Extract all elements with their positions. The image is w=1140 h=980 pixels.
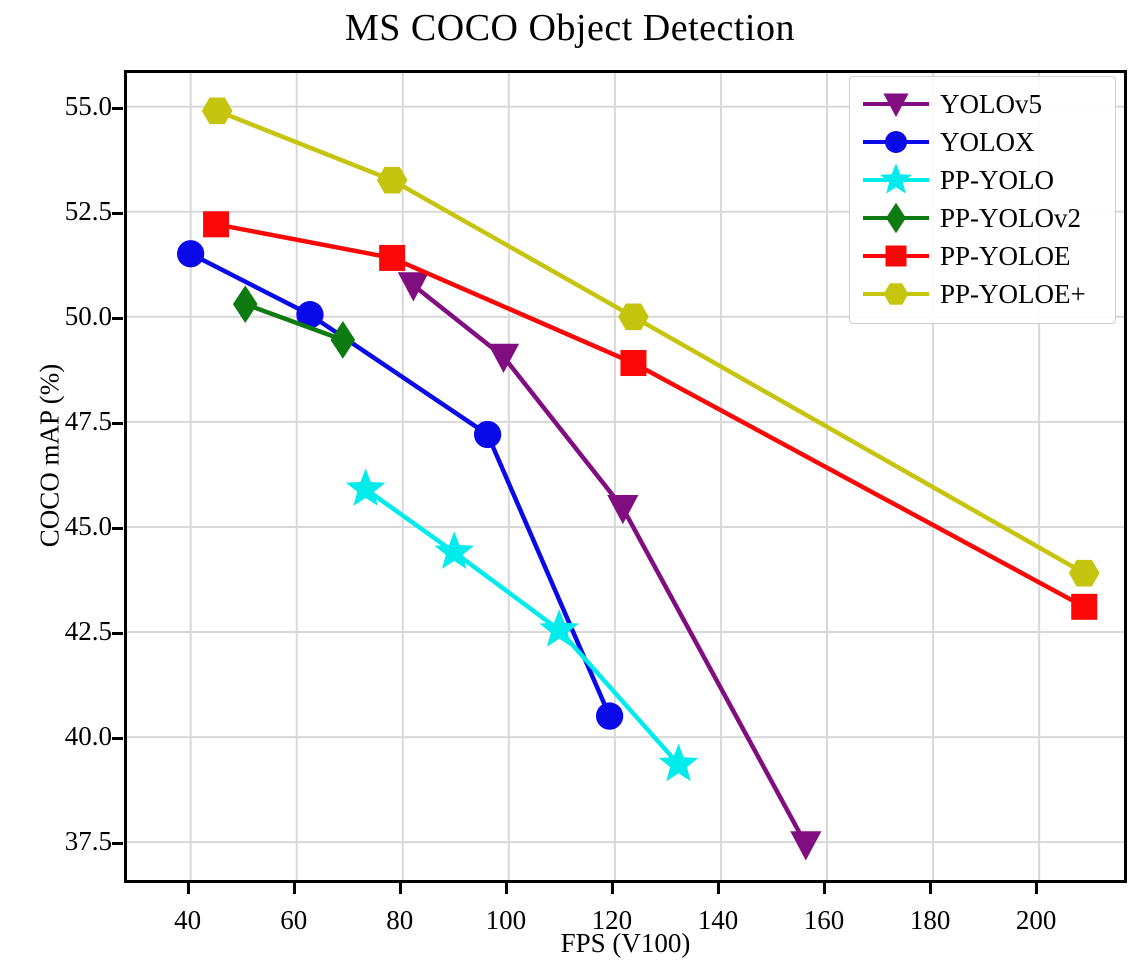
y-tick-mark: [112, 422, 123, 425]
y-tick-mark: [112, 107, 123, 110]
y-axis-label: COCO mAP (%): [35, 256, 66, 656]
y-tick-label: 55.0: [16, 91, 112, 122]
legend-label: YOLOX: [932, 127, 1035, 158]
chart-title: MS COCO Object Detection: [0, 6, 1140, 50]
y-tick-label: 52.5: [16, 196, 112, 227]
y-tick-mark: [112, 527, 123, 530]
legend-marker-triangle-down-icon: [860, 88, 932, 120]
x-tick-mark: [929, 883, 932, 894]
y-tick-mark: [112, 632, 123, 635]
x-tick-mark: [611, 883, 614, 894]
legend-item-pp-yoloe+[interactable]: PP-YOLOE+: [860, 275, 1105, 313]
x-tick-mark: [823, 883, 826, 894]
y-tick-label: 40.0: [16, 721, 112, 752]
legend-item-yolox[interactable]: YOLOX: [860, 123, 1105, 161]
x-tick-mark: [399, 883, 402, 894]
legend-label: PP-YOLO: [932, 165, 1054, 196]
y-tick-mark: [112, 317, 123, 320]
legend-marker-square-icon: [860, 240, 932, 272]
legend-label: PP-YOLOE: [932, 241, 1071, 272]
y-tick-mark: [112, 212, 123, 215]
x-tick-mark: [717, 883, 720, 894]
legend-marker-star-icon: [860, 164, 932, 196]
series-yolov5: [398, 272, 822, 860]
legend-item-pp-yoloe[interactable]: PP-YOLOE: [860, 237, 1105, 275]
x-tick-mark: [293, 883, 296, 894]
legend-item-pp-yolov2[interactable]: PP-YOLOv2: [860, 199, 1105, 237]
x-tick-mark: [187, 883, 190, 894]
legend: YOLOv5YOLOXPP-YOLOPP-YOLOv2PP-YOLOEPP-YO…: [849, 76, 1116, 324]
legend-label: PP-YOLOE+: [932, 279, 1086, 310]
legend-marker-diamond-icon: [860, 202, 932, 234]
y-tick-mark: [112, 842, 123, 845]
legend-item-pp-yolo[interactable]: PP-YOLO: [860, 161, 1105, 199]
x-tick-mark: [1035, 883, 1038, 894]
legend-label: YOLOv5: [932, 89, 1042, 120]
x-axis-label: FPS (V100): [124, 928, 1127, 959]
x-tick-mark: [505, 883, 508, 894]
y-tick-mark: [112, 737, 123, 740]
legend-marker-circle-icon: [860, 126, 932, 158]
series-pp-yolov2: [233, 285, 355, 358]
legend-label: PP-YOLOv2: [932, 203, 1081, 234]
chart-figure: MS COCO Object Detection 37.540.042.545.…: [0, 0, 1140, 980]
legend-item-yolov5[interactable]: YOLOv5: [860, 85, 1105, 123]
legend-marker-hexagon-icon: [860, 278, 932, 310]
y-tick-label: 37.5: [16, 826, 112, 857]
